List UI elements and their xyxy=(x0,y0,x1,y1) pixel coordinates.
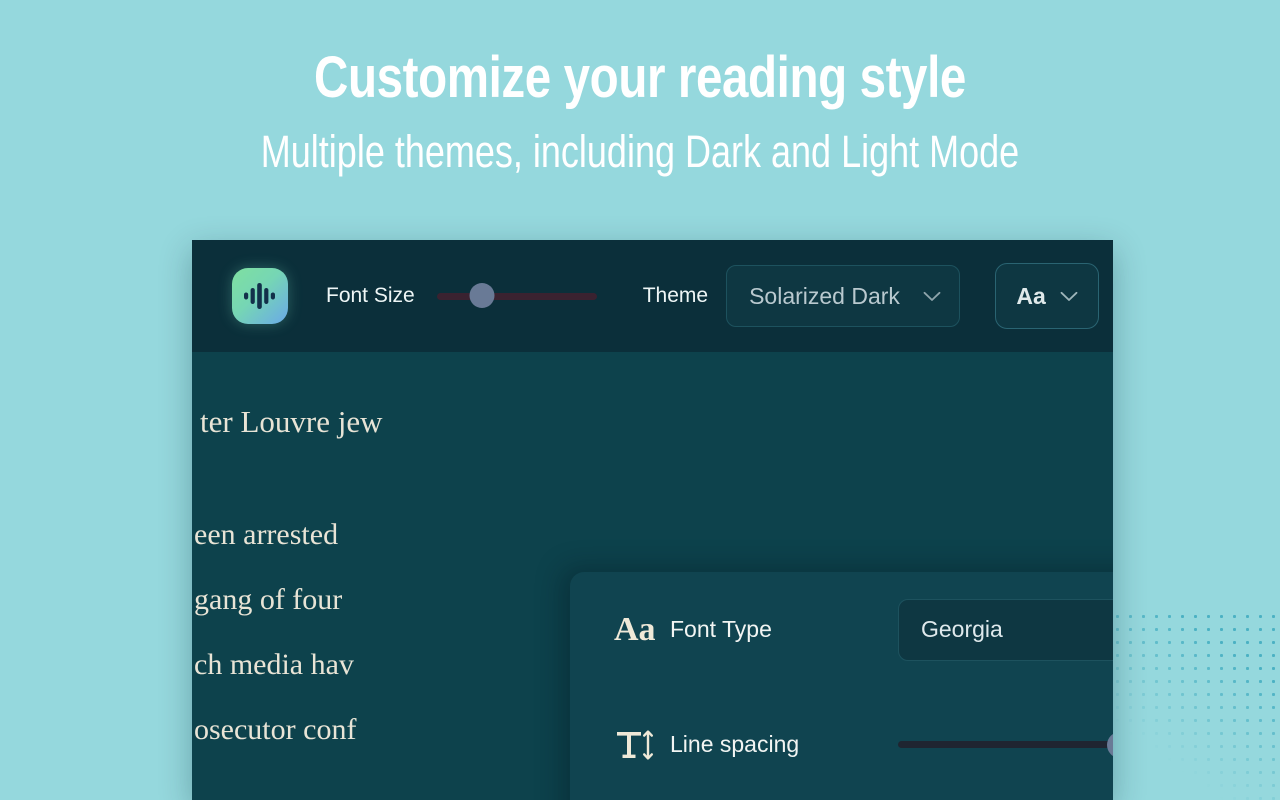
theme-label: Theme xyxy=(643,284,708,308)
setting-row-font-type: Aa Font Type Georgia xyxy=(570,572,1113,687)
toolbar: Font Size Theme Solarized Dark Aa xyxy=(192,240,1113,352)
aa-button-label: Aa xyxy=(1016,283,1045,310)
font-type-control: Georgia xyxy=(898,599,1113,661)
page-subtitle: Multiple themes, including Dark and Ligh… xyxy=(128,127,1152,177)
slider-thumb[interactable] xyxy=(469,283,494,308)
article-line: een arrested xyxy=(194,518,1113,552)
font-type-dropdown[interactable]: Georgia xyxy=(898,599,1113,661)
article-headline: ter Louvre jew xyxy=(200,404,1113,440)
slider-thumb[interactable] xyxy=(1107,732,1113,758)
line-spacing-icon xyxy=(614,723,670,767)
font-size-label: Font Size xyxy=(326,284,415,308)
font-type-icon: Aa xyxy=(614,611,670,649)
font-preview-button[interactable]: Aa xyxy=(995,263,1099,329)
line-spacing-slider[interactable] xyxy=(898,734,1113,756)
slider-track xyxy=(898,741,1113,748)
chevron-down-icon xyxy=(1060,291,1078,302)
line-spacing-control xyxy=(898,734,1113,756)
line-spacing-label: Line spacing xyxy=(670,731,898,758)
setting-row-line-spacing: Line spacing xyxy=(570,687,1113,800)
chevron-down-icon xyxy=(923,291,941,302)
font-type-label: Font Type xyxy=(670,616,898,643)
theme-dropdown-value: Solarized Dark xyxy=(749,283,900,310)
audio-waveform-icon[interactable] xyxy=(232,268,288,324)
font-size-slider[interactable] xyxy=(437,285,597,307)
hero-section: Customize your reading style Multiple th… xyxy=(0,0,1280,176)
reading-settings-panel: Aa Font Type Georgia xyxy=(570,572,1113,800)
slider-track xyxy=(437,293,597,300)
font-type-dropdown-value: Georgia xyxy=(921,616,1003,643)
theme-dropdown[interactable]: Solarized Dark xyxy=(726,265,960,327)
app-window: ter Louvre jew een arrested gang of four… xyxy=(192,240,1113,800)
page-title: Customize your reading style xyxy=(115,48,1165,109)
